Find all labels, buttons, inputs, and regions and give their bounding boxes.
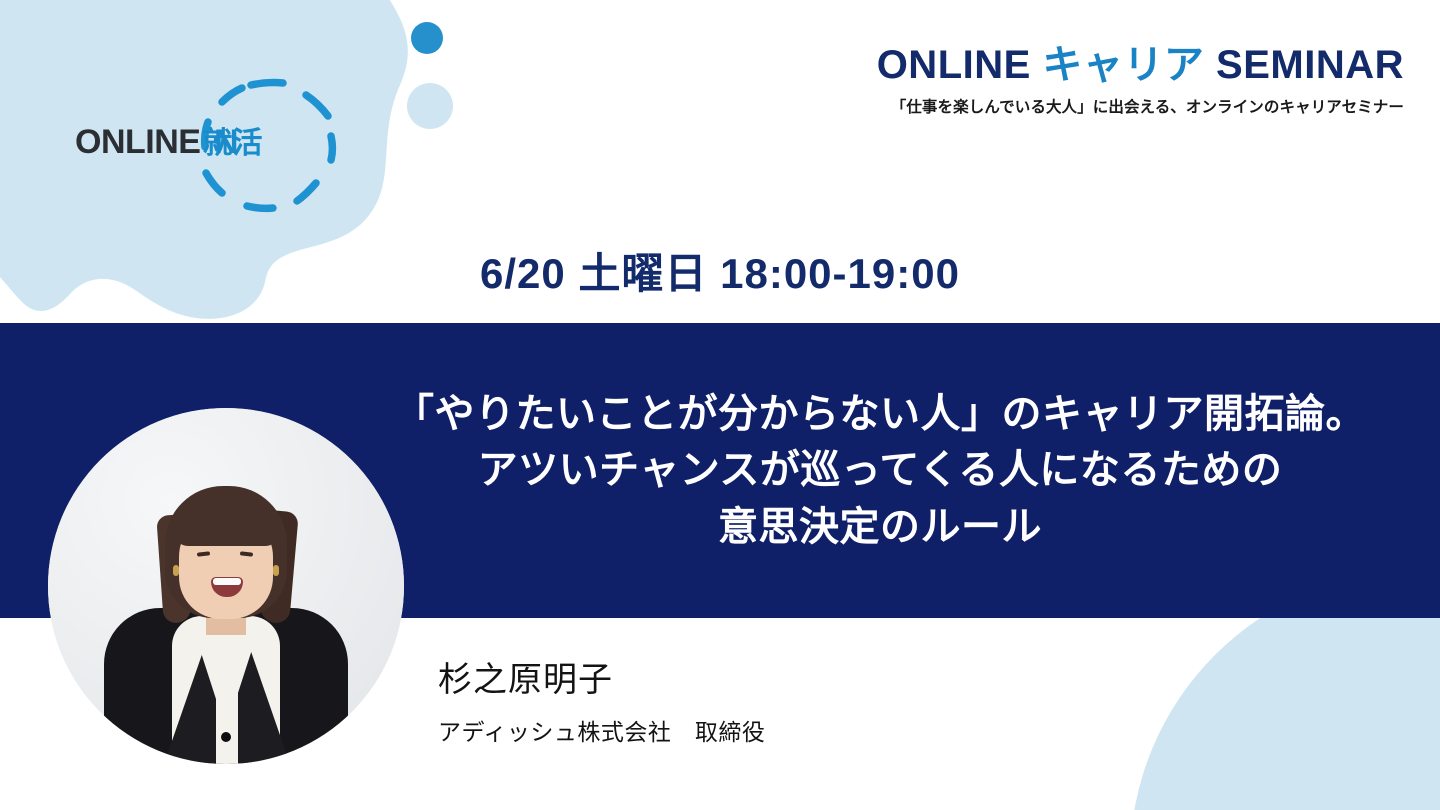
logo-accent-letter: N xyxy=(214,123,238,162)
headline-line-2: アツいチャンスが巡ってくる人になるための xyxy=(330,442,1430,499)
deco-circle-small-top-left xyxy=(22,2,70,50)
title-text-career: キャリア xyxy=(1042,43,1204,87)
seminar-headline: 「やりたいことが分からない人」のキャリア開拓論。 アツいチャンスが巡ってくる人に… xyxy=(330,385,1430,555)
photo-earring-left xyxy=(173,565,179,576)
photo-fringe xyxy=(173,506,279,546)
logo-wordmark-text: ONLINE xyxy=(75,123,200,161)
headline-line-3: 意思決定のルール xyxy=(330,499,1430,556)
speaker-name: 杉之原明子 xyxy=(438,660,765,701)
logo-wordmark: ONLINEN xyxy=(75,123,200,162)
brand-logo: ONLINEN 就活 xyxy=(75,118,262,162)
photo-teeth xyxy=(213,578,241,585)
headline-line-1: 「やりたいことが分からない人」のキャリア開拓論。 xyxy=(330,385,1430,442)
photo-earring-right xyxy=(273,565,279,576)
deco-dot-blue xyxy=(411,22,443,54)
page-subtitle: 「仕事を楽しんでいる大人」に出会える、オンラインのキャリアセミナー xyxy=(804,95,1404,117)
page-title: ONLINE キャリア SEMINAR xyxy=(804,44,1404,86)
speaker-photo xyxy=(48,408,404,764)
title-text-seminar: SEMINAR xyxy=(1204,43,1404,87)
header-block: ONLINE キャリア SEMINAR 「仕事を楽しんでいる大人」に出会える、オ… xyxy=(804,44,1404,117)
seminar-banner: ONLINE キャリア SEMINAR 「仕事を楽しんでいる大人」に出会える、オ… xyxy=(0,0,1440,810)
photo-jacket-button xyxy=(221,732,231,742)
event-datetime: 6/20 土曜日 18:00-19:00 xyxy=(0,240,1440,301)
deco-circle-light xyxy=(407,83,453,129)
speaker-affiliation: アディッシュ株式会社 取締役 xyxy=(438,713,765,747)
title-text-online: ONLINE xyxy=(877,43,1043,87)
speaker-info: 杉之原明子 アディッシュ株式会社 取締役 xyxy=(438,660,765,747)
